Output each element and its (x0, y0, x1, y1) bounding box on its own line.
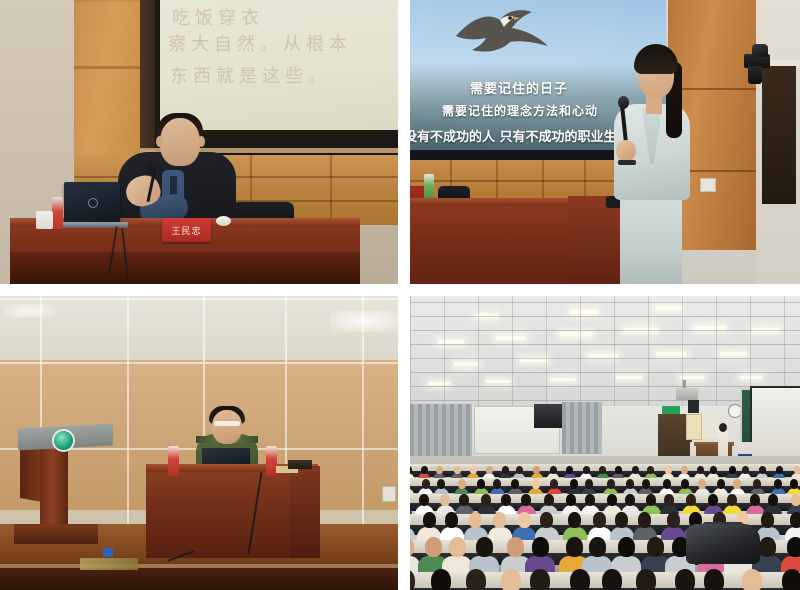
student-head (761, 512, 774, 528)
student-head (422, 479, 430, 489)
student-head (425, 537, 442, 557)
student-head (493, 479, 501, 489)
student-head (423, 512, 436, 528)
ceiling-light (486, 380, 510, 383)
speaker-ear (198, 136, 205, 147)
student-head (501, 569, 521, 590)
student-head (521, 494, 531, 506)
student-head (445, 512, 458, 528)
slide-line-2: 需要记住的理念方法和心动 (442, 102, 598, 119)
student-head (647, 537, 664, 557)
student-head (421, 466, 428, 474)
student-head (566, 537, 583, 557)
student-head (675, 569, 695, 590)
student-head (585, 479, 593, 489)
slide-line-3: 东西就是这些。 (170, 62, 331, 88)
speaker-head (212, 410, 242, 444)
photo-collage: 吃饭穿衣 察大自然。从根本 东西就是这些。 王民忠 (0, 0, 800, 590)
ceiling-light-glare (330, 310, 398, 332)
ceiling-light (454, 362, 478, 366)
student-head (607, 494, 617, 506)
student-head (599, 466, 606, 474)
ceiling-projector (676, 388, 698, 400)
student-head (486, 466, 493, 474)
wrist-watch (618, 160, 636, 165)
presenter-hand (616, 140, 636, 162)
student-head (511, 479, 519, 489)
student-head (759, 466, 766, 474)
slide-line-2: 察大自然。从根本 (168, 30, 352, 56)
ceiling-light (680, 376, 704, 379)
lecturer-head (719, 423, 727, 432)
student-head (507, 537, 524, 557)
student-head (636, 569, 656, 590)
tile-grout-line (127, 296, 129, 528)
student-head (791, 494, 800, 506)
student-head (768, 494, 778, 506)
student-head (642, 479, 650, 489)
student-head (698, 479, 706, 489)
student-head (585, 494, 595, 506)
student-head (437, 479, 445, 489)
head-table-right (290, 466, 320, 558)
slide-line-1: 吃饭穿衣 (172, 4, 264, 30)
student-head (681, 479, 689, 489)
ceiling-tile-line (410, 386, 800, 387)
lectern (568, 196, 620, 284)
student-head (532, 479, 540, 489)
lectern-column (40, 446, 68, 528)
student-head (568, 512, 581, 528)
eyeglasses-icon (214, 421, 240, 426)
student-head (477, 479, 485, 489)
computer-mouse (216, 216, 231, 226)
student-head (646, 494, 656, 506)
camera-body-icon (748, 66, 762, 84)
power-socket (382, 486, 396, 502)
student-head (665, 466, 672, 474)
wainscot-divider (496, 160, 498, 202)
water-bottle (52, 197, 63, 229)
speaker-head (160, 118, 200, 166)
student-head (681, 466, 688, 474)
student-head (618, 537, 635, 557)
student-head (540, 512, 553, 528)
notice-board (686, 414, 702, 440)
photo-bottom-right[interactable]: Packed lecture theatre seen from the bac… (410, 296, 800, 590)
student-head (774, 479, 782, 489)
student-head (638, 512, 651, 528)
student-head (459, 494, 469, 506)
student-head (566, 466, 573, 474)
ceiling-light (570, 310, 598, 314)
eagle-icon (450, 6, 554, 64)
student-head (607, 479, 615, 489)
student-head (697, 466, 704, 474)
lecturer-body (718, 430, 728, 458)
student-head (440, 494, 450, 506)
lectern-emblem-icon (52, 429, 75, 452)
exit-sign (662, 406, 680, 414)
student-head (708, 494, 718, 506)
student-head (742, 466, 749, 474)
student-head (589, 537, 606, 557)
floor-cable-mat (80, 558, 138, 570)
photo-bottom-left[interactable]: Uniformed speaker seated behind the head… (0, 296, 398, 590)
student-head (530, 569, 550, 590)
desk-shadow (10, 252, 360, 284)
ceiling-tile-line (410, 358, 800, 359)
student-head (570, 479, 578, 489)
student-head (436, 466, 443, 474)
presenter-skirt (620, 190, 682, 284)
projection-screen (750, 386, 800, 448)
floor-connector-box (103, 548, 113, 557)
student-head (566, 494, 576, 506)
student-head (733, 479, 741, 489)
student-head (533, 466, 540, 474)
student-head (667, 512, 680, 528)
lectern-base (14, 524, 98, 544)
student-head (469, 512, 482, 528)
student-head (449, 537, 466, 557)
student-head (466, 569, 486, 590)
ceiling-light (560, 332, 592, 336)
name-plate: 王民忠 (162, 218, 211, 242)
student-head (476, 537, 493, 557)
student-head (782, 569, 800, 590)
student-head (742, 569, 762, 590)
slide-heading: 需要记住的日子 (470, 78, 568, 97)
ceiling-light (720, 352, 746, 356)
ceiling-light (656, 306, 682, 310)
microphone-icon (146, 163, 154, 171)
student-head (686, 494, 696, 506)
ceiling-light (550, 378, 576, 381)
ceiling-light (740, 376, 762, 379)
student-head (481, 494, 491, 506)
student-head (753, 479, 761, 489)
student-head (615, 466, 622, 474)
student-head (501, 494, 511, 506)
student-head (727, 494, 737, 506)
ceiling-light (496, 336, 526, 340)
student-head (458, 479, 466, 489)
student-head (710, 466, 717, 474)
student-head (493, 512, 506, 528)
doorway (762, 64, 796, 204)
student-head (454, 466, 461, 474)
power-socket (700, 178, 716, 192)
book (288, 460, 312, 469)
student-head (759, 537, 776, 557)
loudspeaker (688, 400, 699, 413)
microphone-icon (618, 96, 629, 109)
student-head (550, 479, 558, 489)
student-head (532, 537, 549, 557)
student-head (790, 512, 800, 528)
student-head (470, 466, 477, 474)
student-head (729, 466, 736, 474)
wainscot-divider (542, 160, 544, 202)
tile-grout-line (0, 298, 398, 300)
student-head (794, 466, 800, 474)
paper-cup (36, 211, 53, 229)
backpack (686, 524, 760, 564)
student-head (516, 466, 523, 474)
wall-camera-icon (752, 44, 768, 57)
ceiling-light (428, 382, 450, 385)
window-curtain (410, 404, 472, 462)
student-head (419, 494, 429, 506)
window-curtain (562, 402, 602, 454)
student-head (787, 537, 800, 557)
student-head (625, 494, 635, 506)
student-head (626, 479, 634, 489)
tile-grout-line (0, 362, 398, 364)
student-head (750, 494, 760, 506)
student-head (632, 466, 639, 474)
student-head (583, 466, 590, 474)
student-head (502, 466, 509, 474)
student-head (663, 479, 671, 489)
ceiling-tile-line (410, 302, 800, 303)
student-head (550, 466, 557, 474)
ceiling-tile-line (410, 344, 800, 345)
wainscot-line (410, 180, 626, 182)
student-head (544, 494, 554, 506)
student-head (431, 569, 451, 590)
student-head (647, 466, 654, 474)
ceiling-tile-line (410, 330, 800, 331)
stage-front-face (0, 568, 398, 590)
student-head (790, 479, 798, 489)
ceiling-tile-line (410, 372, 800, 373)
ceiling-tile-line (410, 316, 800, 317)
student-head (615, 512, 628, 528)
student-head (776, 466, 783, 474)
projection-screen: 吃饭穿衣 察大自然。从根本 东西就是这些。 (160, 0, 398, 130)
student-head (518, 512, 531, 528)
student-head (704, 569, 724, 590)
photo-top-right[interactable]: 需要记住的日子 需要记住的理念方法和心动 没有不成功的人 只有不成功的职业生涯设… (410, 0, 800, 284)
student-head (602, 569, 622, 590)
laptop-logo-icon (88, 198, 98, 208)
student-head (717, 479, 725, 489)
ceiling-light (616, 376, 642, 379)
student-head (593, 512, 606, 528)
speaker-ear (156, 136, 163, 147)
student-head (664, 494, 674, 506)
wainscot-divider (330, 155, 332, 225)
photo-top-left[interactable]: 吃饭穿衣 察大自然。从根本 东西就是这些。 王民忠 (0, 0, 398, 284)
student-head (570, 569, 590, 590)
water-bottle (168, 446, 179, 476)
name-plate-text: 王民忠 (171, 224, 201, 237)
lectern-side-panel (20, 442, 42, 502)
ceiling-light-glare (4, 304, 56, 318)
